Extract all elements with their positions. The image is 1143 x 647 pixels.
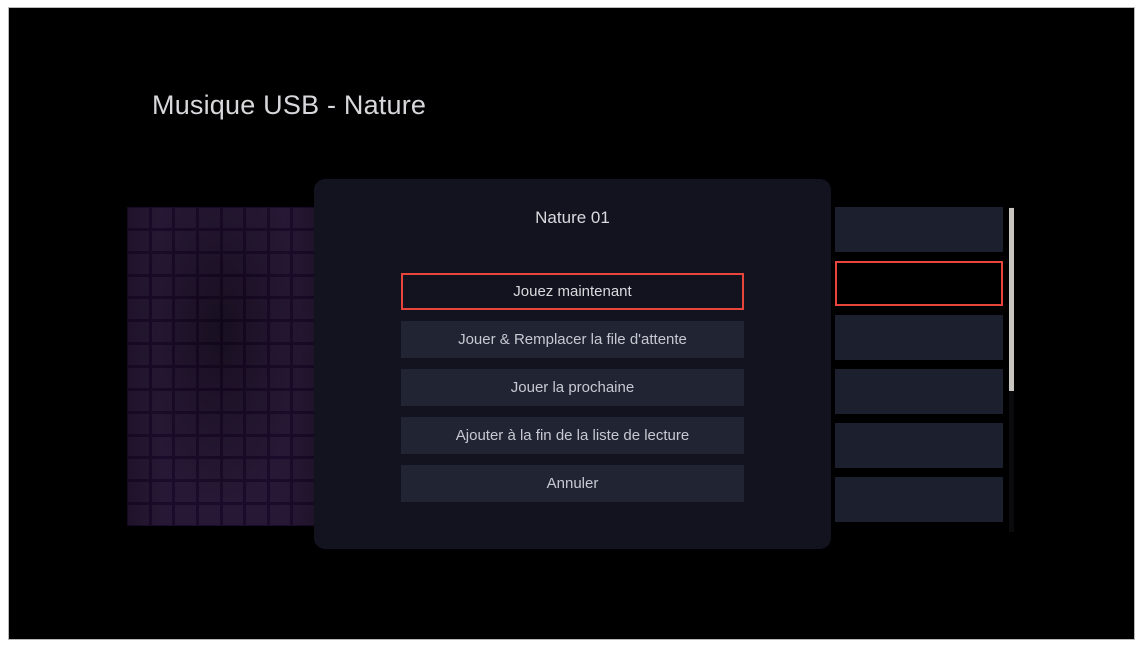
album-art-tile	[223, 391, 244, 411]
screen-content: Musique USB - Nature Nature 01 Jouez mai…	[9, 8, 1134, 639]
track-row[interactable]	[835, 423, 1003, 468]
album-art-tile	[270, 368, 291, 388]
album-art-tile	[175, 322, 196, 342]
album-art-tile	[223, 505, 244, 525]
album-art-tile	[246, 437, 267, 457]
album-art-tile	[246, 368, 267, 388]
album-art-tile	[223, 414, 244, 434]
album-art-tile	[293, 299, 314, 319]
album-art-tile	[246, 414, 267, 434]
album-art-tile	[246, 459, 267, 479]
album-art-tile	[175, 459, 196, 479]
album-art-tile	[199, 505, 220, 525]
album-art-tile	[270, 459, 291, 479]
album-art[interactable]	[127, 207, 315, 526]
album-art-tile	[293, 437, 314, 457]
album-art-tile	[152, 505, 173, 525]
album-art-tile	[128, 277, 149, 297]
album-art-tile	[152, 299, 173, 319]
dialog-button-3[interactable]: Ajouter à la fin de la liste de lecture	[401, 417, 744, 454]
album-art-tile	[128, 505, 149, 525]
album-art-tile	[246, 299, 267, 319]
album-art-tile	[293, 482, 314, 502]
album-art-tile	[270, 345, 291, 365]
album-art-tile	[293, 277, 314, 297]
album-art-tile	[270, 482, 291, 502]
album-art-tile	[199, 459, 220, 479]
album-art-tile	[152, 208, 173, 228]
album-art-tile	[128, 208, 149, 228]
album-art-tile	[128, 437, 149, 457]
album-art-tile-grid	[127, 207, 315, 526]
album-art-tile	[293, 208, 314, 228]
track-row[interactable]	[835, 207, 1003, 252]
album-art-tile	[223, 368, 244, 388]
album-art-tile	[152, 322, 173, 342]
page-title: Musique USB - Nature	[152, 90, 426, 121]
album-art-tile	[152, 391, 173, 411]
album-art-tile	[128, 414, 149, 434]
album-art-tile	[175, 208, 196, 228]
album-art-tile	[293, 345, 314, 365]
album-art-tile	[223, 322, 244, 342]
track-row[interactable]	[835, 315, 1003, 360]
album-art-tile	[199, 368, 220, 388]
album-art-tile	[128, 482, 149, 502]
album-art-tile	[175, 482, 196, 502]
album-art-tile	[175, 345, 196, 365]
track-row-selected[interactable]	[835, 261, 1003, 306]
album-art-tile	[128, 254, 149, 274]
track-row[interactable]	[835, 477, 1003, 522]
dialog-title: Nature 01	[314, 208, 831, 228]
album-art-tile	[128, 299, 149, 319]
album-art-tile	[128, 322, 149, 342]
album-art-tile	[246, 322, 267, 342]
album-art-tile	[293, 368, 314, 388]
album-art-tile	[270, 299, 291, 319]
album-art-tile	[293, 391, 314, 411]
track-list[interactable]	[835, 207, 1003, 531]
album-art-tile	[223, 437, 244, 457]
album-art-tile	[223, 277, 244, 297]
dialog-button-2[interactable]: Jouer la prochaine	[401, 369, 744, 406]
album-art-tile	[128, 368, 149, 388]
album-art-tile	[175, 414, 196, 434]
dialog-button-4[interactable]: Annuler	[401, 465, 744, 502]
album-art-tile	[270, 505, 291, 525]
album-art-tile	[246, 231, 267, 251]
album-art-tile	[175, 299, 196, 319]
album-art-tile	[223, 482, 244, 502]
album-art-tile	[293, 254, 314, 274]
dialog-button-0[interactable]: Jouez maintenant	[401, 273, 744, 310]
album-art-tile	[293, 322, 314, 342]
album-art-tile	[152, 254, 173, 274]
album-art-tile	[175, 505, 196, 525]
album-art-tile	[175, 231, 196, 251]
track-row[interactable]	[835, 369, 1003, 414]
album-art-tile	[128, 345, 149, 365]
album-art-tile	[270, 231, 291, 251]
album-art-tile	[270, 322, 291, 342]
album-art-tile	[199, 322, 220, 342]
album-art-tile	[223, 459, 244, 479]
album-art-tile	[199, 482, 220, 502]
album-art-tile	[199, 414, 220, 434]
album-art-tile	[293, 505, 314, 525]
album-art-tile	[246, 208, 267, 228]
dialog-button-1[interactable]: Jouer & Remplacer la file d'attente	[401, 321, 744, 358]
album-art-tile	[152, 482, 173, 502]
album-art-tile	[246, 482, 267, 502]
album-art-tile	[152, 345, 173, 365]
album-art-tile	[223, 231, 244, 251]
album-art-tile	[223, 254, 244, 274]
album-art-tile	[270, 277, 291, 297]
album-art-tile	[152, 277, 173, 297]
tv-screen-frame: Musique USB - Nature Nature 01 Jouez mai…	[8, 7, 1135, 640]
dialog-action-list: Jouez maintenantJouer & Remplacer la fil…	[401, 273, 744, 513]
album-art-tile	[128, 231, 149, 251]
album-art-tile	[199, 437, 220, 457]
album-art-tile	[293, 231, 314, 251]
album-art-tile	[270, 208, 291, 228]
album-art-tile	[246, 277, 267, 297]
context-menu-dialog: Nature 01 Jouez maintenantJouer & Rempla…	[314, 179, 831, 549]
album-art-tile	[175, 391, 196, 411]
album-art-tile	[199, 345, 220, 365]
album-art-tile	[270, 414, 291, 434]
album-art-tile	[199, 277, 220, 297]
album-art-tile	[152, 459, 173, 479]
album-art-tile	[152, 414, 173, 434]
album-art-tile	[199, 299, 220, 319]
album-art-tile	[152, 437, 173, 457]
album-art-tile	[223, 345, 244, 365]
album-art-tile	[199, 208, 220, 228]
album-art-tile	[128, 391, 149, 411]
album-art-tile	[199, 391, 220, 411]
album-art-tile	[270, 254, 291, 274]
album-art-tile	[175, 254, 196, 274]
album-art-tile	[270, 391, 291, 411]
album-art-tile	[246, 254, 267, 274]
album-art-tile	[175, 277, 196, 297]
album-art-tile	[246, 345, 267, 365]
album-art-tile	[293, 459, 314, 479]
album-art-tile	[270, 437, 291, 457]
album-art-tile	[246, 505, 267, 525]
album-art-tile	[128, 459, 149, 479]
list-scrollbar-thumb[interactable]	[1009, 208, 1014, 391]
album-art-tile	[152, 368, 173, 388]
album-art-tile	[246, 391, 267, 411]
album-art-tile	[152, 231, 173, 251]
album-art-tile	[175, 437, 196, 457]
album-art-tile	[175, 368, 196, 388]
album-art-tile	[293, 414, 314, 434]
album-art-tile	[223, 208, 244, 228]
album-art-tile	[223, 299, 244, 319]
album-art-tile	[199, 254, 220, 274]
album-art-tile	[199, 231, 220, 251]
